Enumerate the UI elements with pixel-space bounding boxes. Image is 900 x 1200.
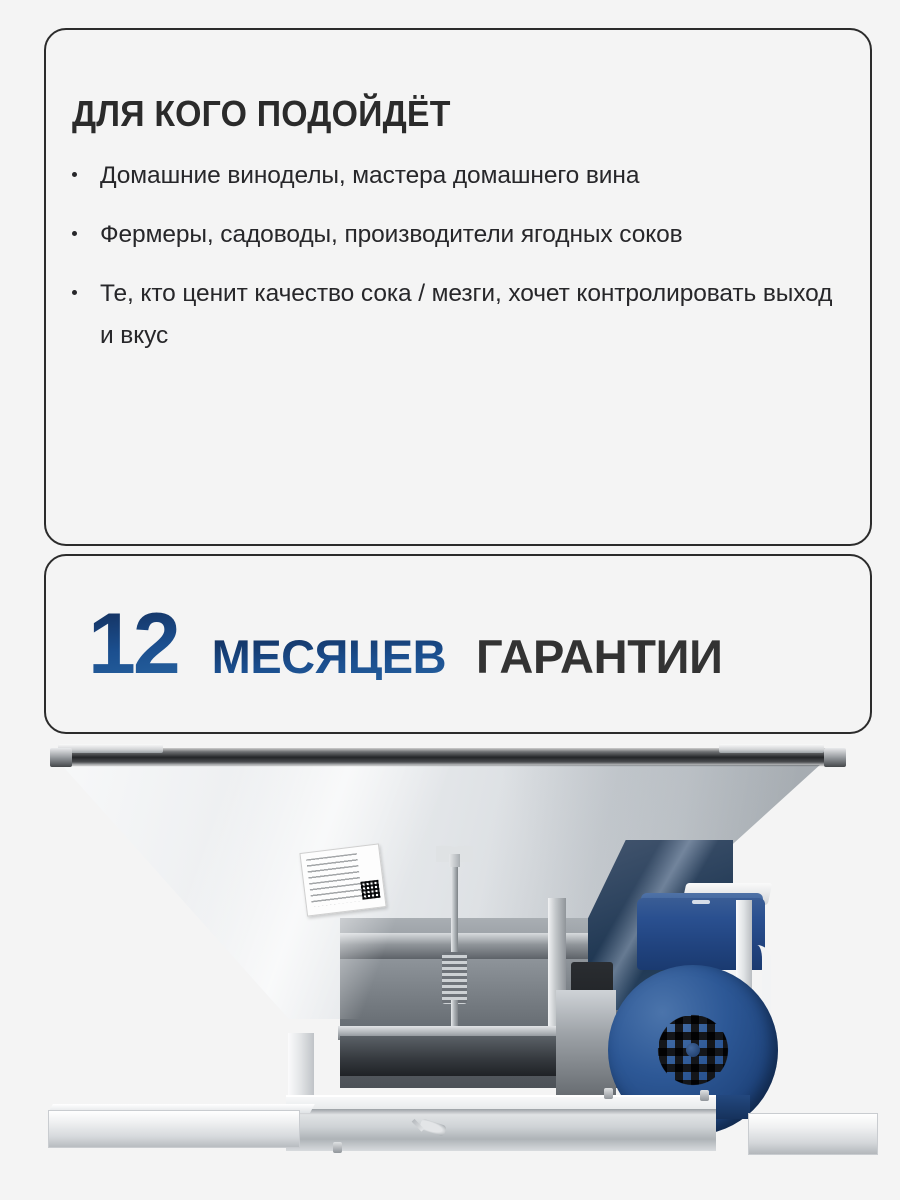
sticker-text-lines: [306, 853, 362, 907]
list-item: Фермеры, садоводы, производители ягодных…: [68, 214, 846, 256]
bullet-icon: [72, 231, 77, 236]
bolt-icon: [333, 1142, 342, 1153]
warranty-months-label: МЕСЯЦЕВ: [212, 633, 446, 680]
list-item-label: Те, кто ценит качество сока / мезги, хоч…: [100, 280, 832, 349]
list-item: Те, кто ценит качество сока / мезги, хоч…: [68, 273, 846, 357]
bolt-icon: [700, 1090, 709, 1101]
qr-code-icon: [360, 880, 380, 900]
warranty-label: ГАРАНТИИ: [476, 633, 723, 680]
bullet-icon: [72, 172, 77, 177]
frame-base-rib-shape: [286, 1109, 716, 1115]
frame-left-leg-shape: [48, 1110, 300, 1148]
terminal-box-slot-shape: [692, 900, 710, 904]
bolt-icon: [604, 1088, 613, 1099]
warranty-banner: 12 МЕСЯЦЕВ ГАРАНТИИ: [46, 601, 723, 687]
hopper-rim-shape: [55, 748, 827, 765]
bullet-icon: [72, 290, 77, 295]
list-item-label: Фермеры, садоводы, производители ягодных…: [100, 221, 683, 248]
motor-hub-shape: [686, 1043, 700, 1057]
audience-list: Домашние виноделы, мастера домашнего вин…: [68, 155, 846, 358]
frame-right-leg-shape: [748, 1113, 878, 1155]
list-item-label: Домашние виноделы, мастера домашнего вин…: [100, 162, 639, 189]
frame-base-beam-shape: [286, 1095, 716, 1151]
page-root: ДЛЯ КОГО ПОДОЙДЁТ Домашние виноделы, мас…: [0, 0, 900, 1200]
list-item: Домашние виноделы, мастера домашнего вин…: [68, 155, 846, 197]
warranty-card: 12 МЕСЯЦЕВ ГАРАНТИИ: [44, 554, 872, 734]
hopper-rim-cap-right-shape: [824, 748, 846, 767]
hopper-rim-cap-left-shape: [50, 748, 72, 767]
audience-card: ДЛЯ КОГО ПОДОЙДЁТ Домашние виноделы, мас…: [44, 28, 872, 546]
warranty-months-count: 12: [88, 601, 178, 687]
page-title: ДЛЯ КОГО ПОДОЙДЁТ: [72, 93, 451, 135]
product-label-sticker: [299, 843, 386, 916]
